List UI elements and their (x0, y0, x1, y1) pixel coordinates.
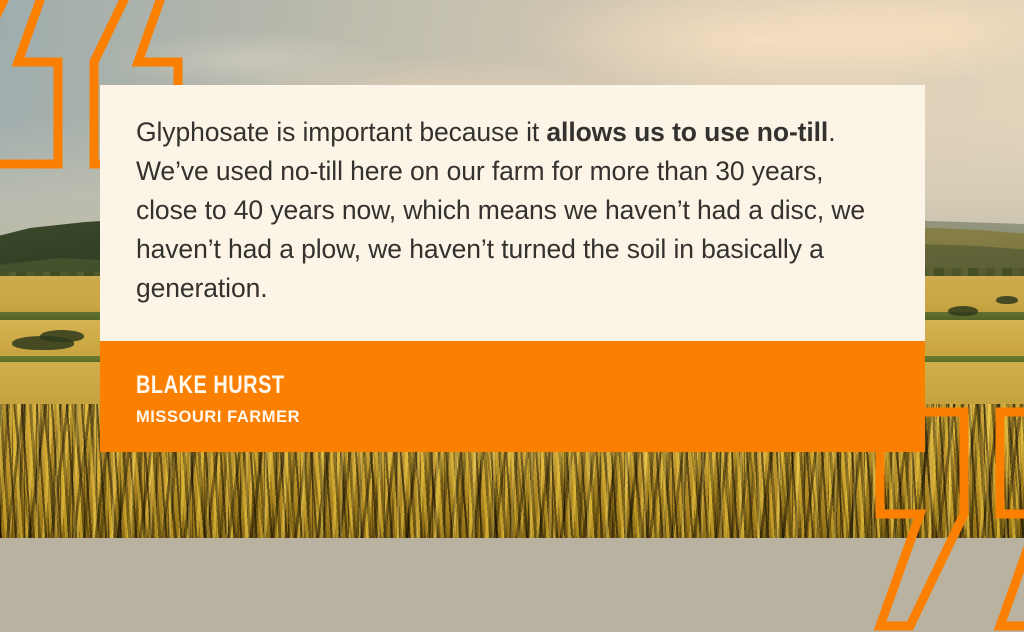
quote-body: Glyphosate is important because it allow… (100, 85, 925, 341)
quote-part-1: Glyphosate is important because it (136, 117, 546, 147)
speaker-name: BLAKE HURST (136, 373, 738, 398)
field-bale (996, 296, 1018, 304)
quote-card: Glyphosate is important because it allow… (100, 85, 925, 452)
field-bale (12, 336, 74, 350)
field-bale (948, 306, 978, 316)
attribution-bar: BLAKE HURST MISSOURI FARMER (100, 341, 925, 452)
quote-text: Glyphosate is important because it allow… (136, 113, 885, 308)
quote-emphasis: allows us to use no-till (546, 117, 828, 147)
speaker-title: MISSOURI FARMER (136, 409, 889, 426)
